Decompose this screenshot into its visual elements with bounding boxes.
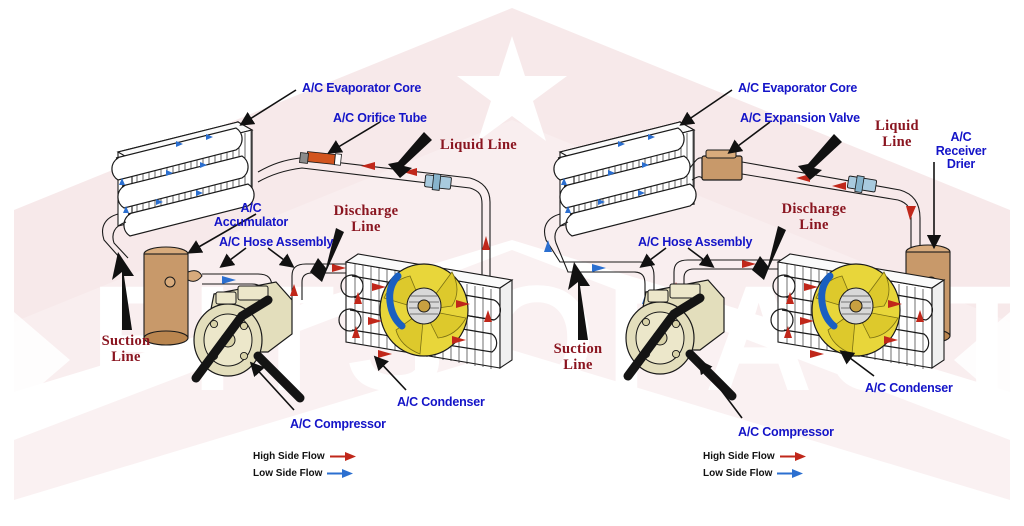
leader-right-compressor (700, 362, 742, 418)
right-highlight-suction-line: SuctionLine (536, 341, 620, 373)
left-label-compressor: A/C Compressor (290, 418, 386, 432)
leader-left-orifice (330, 122, 380, 152)
leader-right-hose-a (642, 248, 666, 266)
leader-right-evaporator (682, 90, 732, 124)
leader-arrows-layer (0, 0, 1024, 526)
artboard: FITS TOPAUTO (0, 0, 1024, 526)
right-label-condenser: A/C Condenser (865, 382, 953, 396)
left-label-hose-assembly: A/C Hose Assembly (219, 236, 333, 250)
legend-label-low-side: Low Side Flow (703, 468, 772, 479)
left-highlight-liquid-line: Liquid Line (440, 137, 517, 153)
right-highlight-liquid-line: LiquidLine (862, 118, 932, 150)
legend-label-low-side: Low Side Flow (253, 468, 322, 479)
leader-left-condenser (376, 358, 406, 390)
legend-label-high-side: High Side Flow (703, 451, 775, 462)
right-legend: High Side Flow Low Side Flow (703, 449, 806, 483)
right-highlight-discharge-line: DischargeLine (766, 201, 862, 233)
low-side-arrow-icon (327, 469, 353, 478)
high-side-arrow-icon (330, 452, 356, 461)
low-side-arrow-icon (777, 469, 803, 478)
block-arrow-right-discharge (752, 226, 786, 280)
right-label-compressor: A/C Compressor (738, 426, 834, 440)
block-arrow-right-suction (568, 262, 590, 340)
legend-label-high-side: High Side Flow (253, 451, 325, 462)
leader-left-compressor (252, 364, 294, 410)
left-label-evaporator-core: A/C Evaporator Core (302, 82, 421, 96)
leader-left-hose-b (268, 248, 292, 266)
diagram-canvas: FITS TOPAUTO (0, 0, 1024, 526)
high-side-arrow-icon (780, 452, 806, 461)
right-label-receiver-drier: A/CReceiverDrier (924, 131, 998, 172)
leader-left-hose-a (222, 248, 246, 266)
left-highlight-discharge-line: DischargeLine (318, 203, 414, 235)
right-label-evaporator-core: A/C Evaporator Core (738, 82, 857, 96)
left-label-accumulator: A/CAccumulator (205, 202, 297, 229)
legend-row-high-side: High Side Flow (253, 449, 356, 464)
leader-right-hose-b (688, 248, 712, 266)
block-arrow-right-liquid (798, 134, 842, 180)
leader-right-condenser (842, 352, 874, 376)
left-legend: High Side Flow Low Side Flow (253, 449, 356, 483)
legend-row-high-side: High Side Flow (703, 449, 806, 464)
left-label-orifice-tube: A/C Orifice Tube (333, 112, 427, 126)
right-label-hose-assembly: A/C Hose Assembly (638, 236, 752, 250)
legend-row-low-side: Low Side Flow (253, 466, 356, 481)
legend-row-low-side: Low Side Flow (703, 466, 806, 481)
leader-left-evaporator (242, 90, 296, 124)
left-highlight-suction-line: SuctionLine (84, 333, 168, 365)
block-arrow-left-liquid (388, 132, 432, 178)
leader-right-expansion (730, 122, 770, 152)
left-label-condenser: A/C Condenser (397, 396, 485, 410)
right-label-expansion-valve: A/C Expansion Valve (740, 112, 860, 126)
block-arrow-left-suction (112, 252, 134, 330)
